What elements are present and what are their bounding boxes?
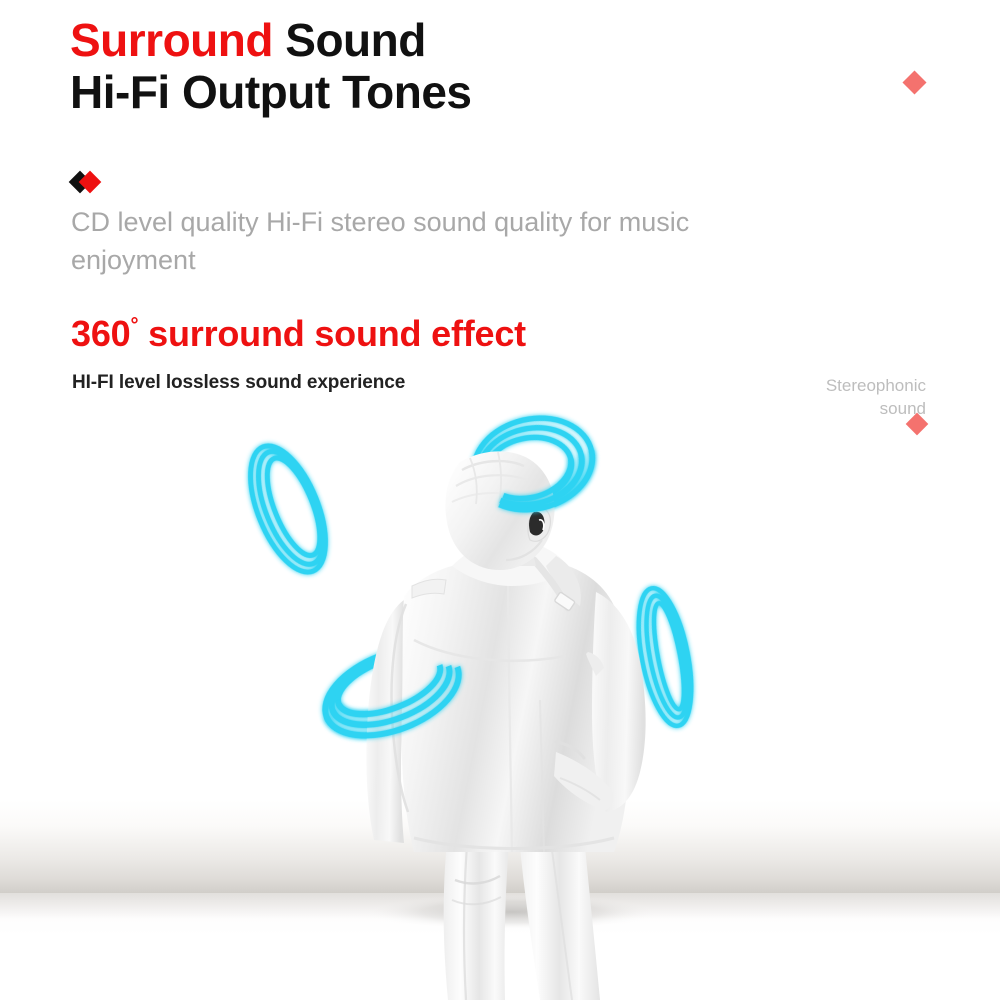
figure-ground-shadow [362, 894, 662, 930]
product-feature-banner: Surround Sound Hi-Fi Output Tones CD lev… [0, 0, 1000, 1000]
earbud-icon [529, 512, 544, 536]
figure-head [445, 451, 554, 570]
man-figure-illustration [0, 0, 1000, 1000]
